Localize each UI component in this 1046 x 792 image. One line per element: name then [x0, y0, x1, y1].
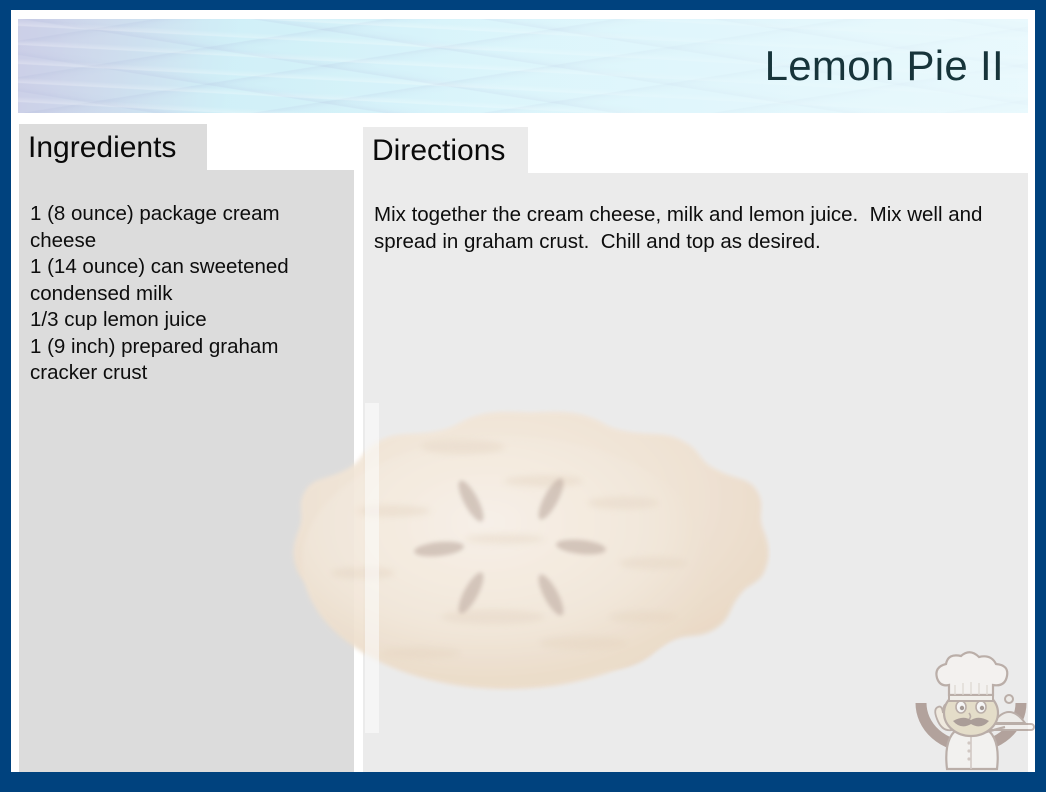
- directions-body-text: Mix together the cream cheese, milk and …: [374, 201, 1014, 255]
- directions-section-header: Directions: [363, 127, 528, 173]
- ingredients-section-header: Ingredients: [19, 124, 207, 170]
- list-item: 1 (14 ounce) can sweetened condensed mil…: [30, 254, 340, 307]
- title-banner: Lemon Pie II: [18, 19, 1028, 113]
- recipe-card: Lemon Pie II Ingredients 1 (8 ounce) pac…: [0, 0, 1046, 792]
- list-item: 1 (9 inch) prepared graham cracker crust: [30, 334, 340, 387]
- list-item: 1/3 cup lemon juice: [30, 307, 340, 334]
- card-inner-surface: Lemon Pie II Ingredients 1 (8 ounce) pac…: [11, 10, 1035, 772]
- directions-panel: Mix together the cream cheese, milk and …: [363, 173, 1028, 772]
- ingredients-panel: 1 (8 ounce) package cream cheese 1 (14 o…: [19, 170, 354, 772]
- page-title: Lemon Pie II: [765, 45, 1004, 87]
- list-item: 1 (8 ounce) package cream cheese: [30, 201, 340, 254]
